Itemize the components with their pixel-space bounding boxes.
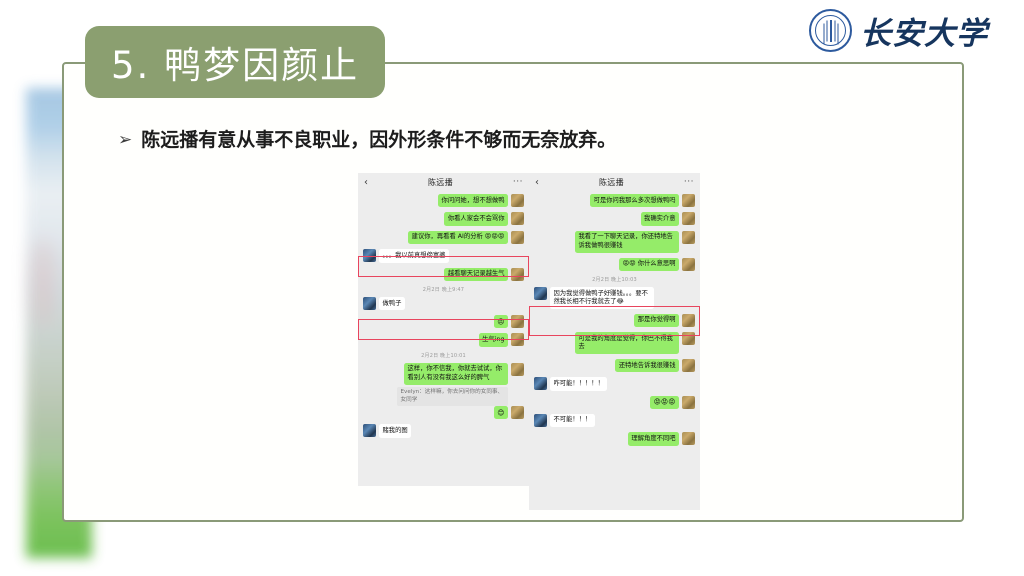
avatar[interactable] (682, 332, 695, 345)
bullet-row: ➢ 陈远播有意从事不良职业，因外形条件不够而无奈放弃。 (118, 128, 616, 152)
chat-message: 咋可能！！！！！ (534, 377, 695, 390)
avatar[interactable] (363, 249, 376, 262)
chat-message: 可是我的角度是觉得，你巴不得我去 (534, 332, 695, 354)
chat-message: 你问问她，想不想做鸭 (363, 194, 524, 207)
avatar[interactable] (534, 377, 547, 390)
university-emblem-icon (809, 9, 852, 52)
avatar[interactable] (511, 333, 524, 346)
message-bubble[interactable]: 😡😡😡 (650, 396, 679, 409)
message-bubble[interactable]: 做鸭子 (379, 297, 405, 310)
avatar[interactable] (511, 268, 524, 281)
avatar[interactable] (363, 297, 376, 310)
back-chevron-icon[interactable]: ‹ (535, 178, 539, 188)
chat-message: 😡😡😡 (534, 396, 695, 409)
message-bubble[interactable]: 。。。我以前真想傍富婆 (379, 249, 449, 262)
chat-message: 我看了一下聊天记录，你还特地告诉我做鸭很赚钱 (534, 231, 695, 253)
avatar[interactable] (682, 396, 695, 409)
message-bubble[interactable]: 😡😡 你什么意思啊 (619, 258, 679, 271)
chat-message: 因为我觉得做鸭子好赚钱。。。要不然我长相不行我就去了😂 (534, 287, 695, 309)
message-timestamp: 2月2日 晚上10:03 (534, 276, 695, 283)
back-chevron-icon[interactable]: ‹ (364, 178, 368, 188)
chat-contact-name: 陈远播 (599, 177, 624, 188)
chat-message: 😊 (363, 406, 524, 419)
chat-message: 还特地告诉我很赚钱 (534, 359, 695, 372)
avatar[interactable] (682, 359, 695, 372)
chat-message: 赌我的图 (363, 424, 524, 437)
message-bubble[interactable]: 可是你问我那么多次想做鸭吗 (590, 194, 679, 207)
message-bubble[interactable]: 还特地告诉我很赚钱 (615, 359, 679, 372)
chat-message: 理解角度不同吧 (534, 432, 695, 445)
avatar[interactable] (682, 194, 695, 207)
message-bubble[interactable]: 那是你觉得啊 (634, 314, 679, 327)
university-logo: 长安大学 (809, 8, 988, 53)
message-bubble[interactable]: 😠 (494, 315, 508, 328)
message-bubble[interactable]: 理解角度不同吧 (628, 432, 679, 445)
chat-panel-right: ‹ 陈远播 ··· 可是你问我那么多次想做鸭吗我确实介意我看了一下聊天记录，你还… (529, 173, 700, 510)
avatar[interactable] (682, 432, 695, 445)
message-timestamp: 2月2日 晚上9:47 (363, 286, 524, 293)
chat-message: 这样，你不信我，你就去试试，你看别人有没有我这么好的脾气 (363, 363, 524, 385)
chat-message: 生气ing (363, 333, 524, 346)
chat-header-left: ‹ 陈远播 ··· (358, 173, 529, 192)
message-bubble[interactable]: 😊 (494, 406, 508, 419)
chat-message: 越看聊天记录越生气 (363, 268, 524, 281)
message-bubble[interactable]: 因为我觉得做鸭子好赚钱。。。要不然我长相不行我就去了😂 (550, 287, 654, 309)
avatar[interactable] (511, 406, 524, 419)
bullet-text: 陈远播有意从事不良职业，因外形条件不够而无奈放弃。 (141, 128, 616, 152)
avatar[interactable] (534, 414, 547, 427)
chat-message: 做鸭子 (363, 297, 524, 310)
avatar[interactable] (682, 314, 695, 327)
chat-message: 我确实介意 (534, 212, 695, 225)
chat-panel-left: ‹ 陈远播 ··· 你问问她，想不想做鸭你看人家会不会骂你建议你，再看看 AI的… (358, 173, 529, 486)
message-bubble[interactable]: 我确实介意 (641, 212, 679, 225)
chat-message: 😠 (363, 315, 524, 328)
message-bubble[interactable]: 你看人家会不会骂你 (444, 212, 508, 225)
avatar[interactable] (511, 212, 524, 225)
slide-title-pill: 5. 鸭梦因颜止 (85, 26, 385, 98)
avatar[interactable] (682, 212, 695, 225)
avatar[interactable] (682, 258, 695, 271)
message-timestamp: 2月2日 晚上10:01 (363, 352, 524, 359)
chat-message: 你看人家会不会骂你 (363, 212, 524, 225)
more-options-icon[interactable]: ··· (684, 178, 694, 187)
message-bubble[interactable]: 生气ing (479, 333, 508, 346)
chat-message: 那是你觉得啊 (534, 314, 695, 327)
avatar[interactable] (511, 315, 524, 328)
message-bubble[interactable]: 赌我的图 (379, 424, 411, 437)
chat-header-right: ‹ 陈远播 ··· (529, 173, 700, 192)
bullet-arrow-icon: ➢ (118, 128, 132, 152)
chat-screenshots: ‹ 陈远播 ··· 你问问她，想不想做鸭你看人家会不会骂你建议你，再看看 AI的… (358, 173, 700, 510)
chat-message: 。。。我以前真想傍富婆 (363, 249, 524, 262)
message-bubble[interactable]: 你问问她，想不想做鸭 (438, 194, 508, 207)
more-options-icon[interactable]: ··· (513, 178, 523, 187)
avatar[interactable] (534, 287, 547, 300)
avatar[interactable] (511, 194, 524, 207)
university-name: 长安大学 (860, 8, 988, 53)
chat-message: 建议你，再看看 AI的分析 😡😡😡 (363, 231, 524, 244)
page-title: 5. 鸭梦因颜止 (111, 35, 359, 89)
avatar[interactable] (511, 231, 524, 244)
chat-message-list-left: 你问问她，想不想做鸭你看人家会不会骂你建议你，再看看 AI的分析 😡😡😡。。。我… (358, 192, 529, 447)
avatar[interactable] (511, 363, 524, 376)
message-bubble[interactable]: 可是我的角度是觉得，你巴不得我去 (575, 332, 679, 354)
quoted-message: Evelyn：这样嘛，你去问问你的女同事、女同学 (397, 387, 508, 407)
chat-contact-name: 陈远播 (428, 177, 453, 188)
message-bubble[interactable]: 我看了一下聊天记录，你还特地告诉我做鸭很赚钱 (575, 231, 679, 253)
message-bubble[interactable]: 不可能！！！ (550, 414, 595, 427)
message-bubble[interactable]: 建议你，再看看 AI的分析 😡😡😡 (408, 231, 508, 244)
chat-message: 😡😡 你什么意思啊 (534, 258, 695, 271)
message-bubble[interactable]: 咋可能！！！！！ (550, 377, 607, 390)
chat-message-list-right: 可是你问我那么多次想做鸭吗我确实介意我看了一下聊天记录，你还特地告诉我做鸭很赚钱… (529, 192, 700, 455)
message-bubble[interactable]: 越看聊天记录越生气 (444, 268, 508, 281)
message-bubble[interactable]: 这样，你不信我，你就去试试，你看别人有没有我这么好的脾气 (404, 363, 508, 385)
avatar[interactable] (682, 231, 695, 244)
avatar[interactable] (363, 424, 376, 437)
chat-message: 不可能！！！ (534, 414, 695, 427)
chat-message: 可是你问我那么多次想做鸭吗 (534, 194, 695, 207)
